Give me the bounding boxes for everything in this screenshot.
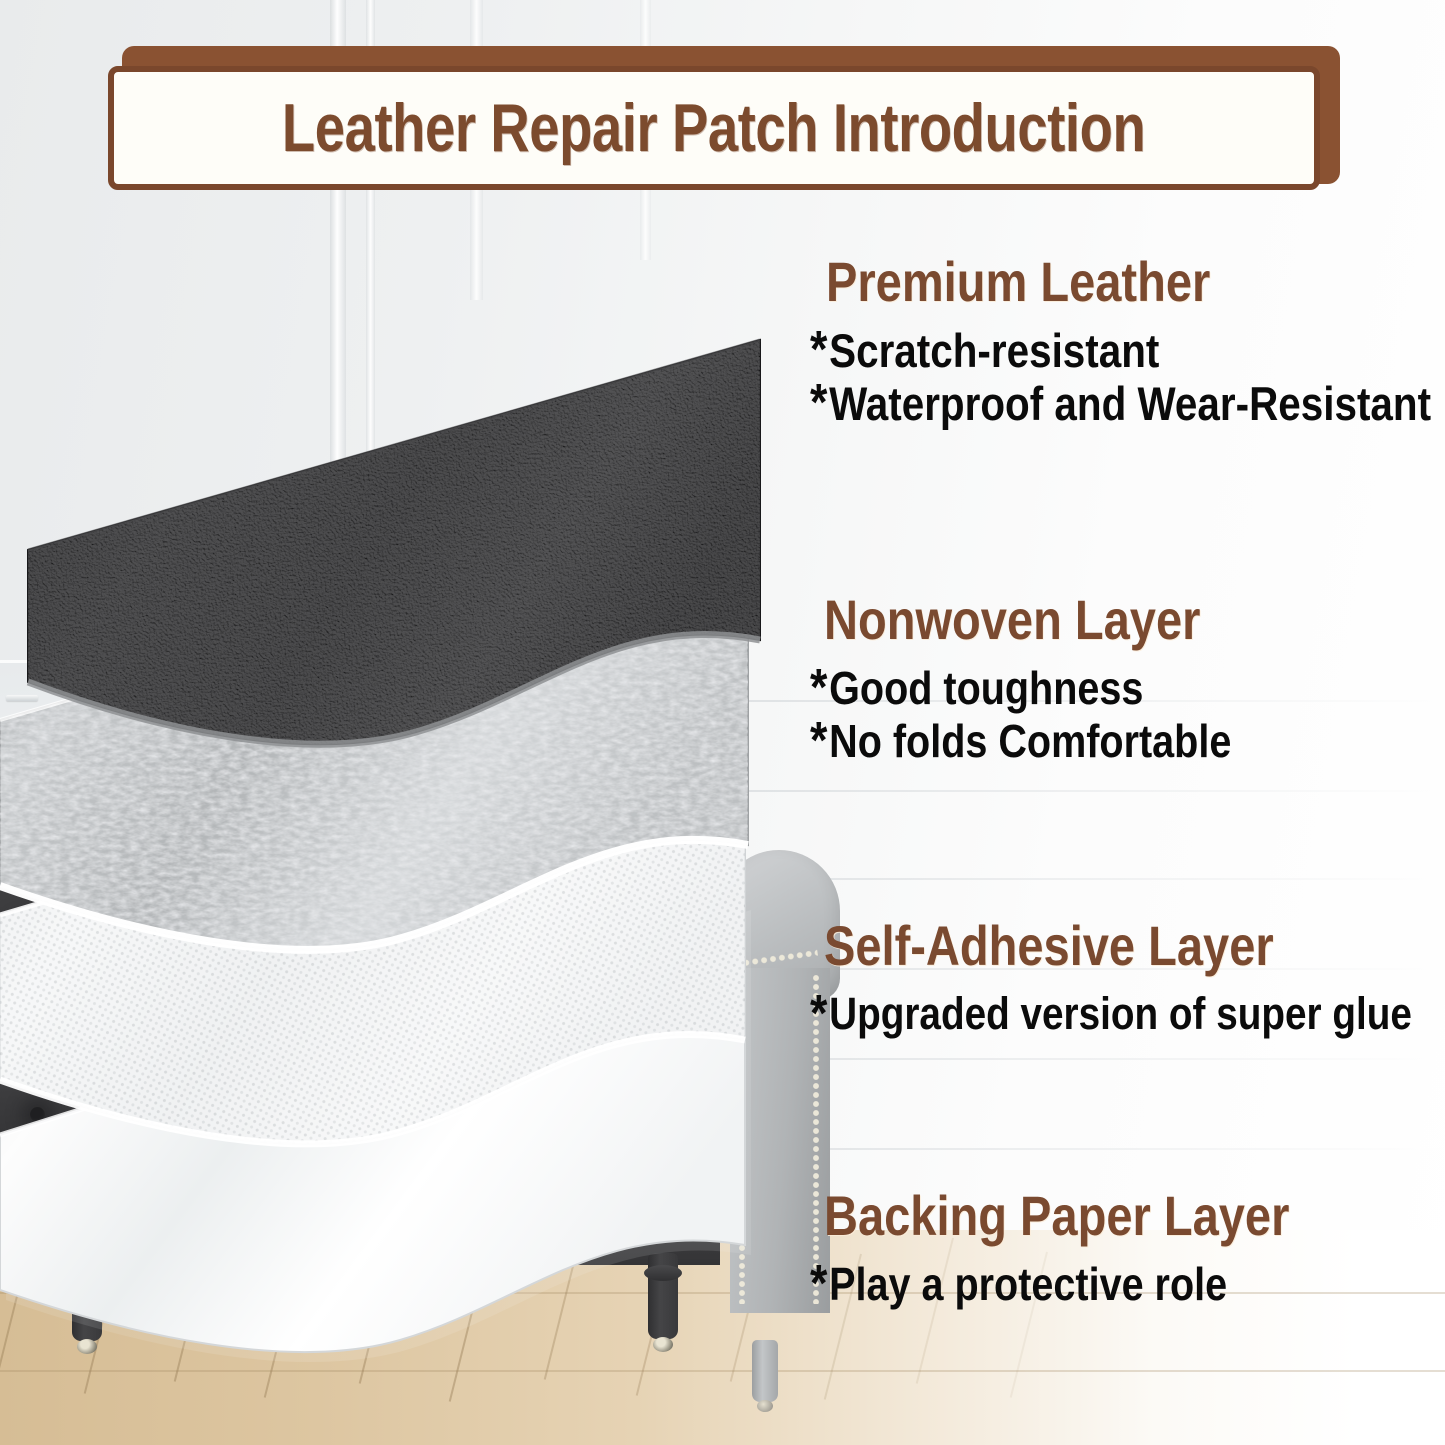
feature-block-backing-paper-layer: Backing Paper Layer * Play a protective … [810,1188,1445,1313]
infographic-canvas: Leather Repair Patch Introduction Premiu… [0,0,1445,1445]
feature-bullet: * Good toughness [810,664,1356,713]
feature-bullet-list: * Play a protective role [810,1260,1445,1309]
banner-box: Leather Repair Patch Introduction [108,66,1320,190]
feature-bullet: * Play a protective role [810,1260,1356,1309]
feature-bullet: * Waterproof and Wear-Resistant [810,379,1356,428]
feature-bullet-text: Scratch-resistant [829,326,1159,375]
feature-bullet-list: * Good toughness * No folds Comfortable [810,664,1445,767]
feature-bullet-text: No folds Comfortable [829,717,1231,765]
patch-layer-stack [0,340,840,1350]
asterisk-bullet-icon: * [810,990,827,1039]
feature-heading: Self-Adhesive Layer [824,918,1346,974]
feature-block-premium-leather: Premium Leather * Scratch-resistant * Wa… [810,254,1445,433]
asterisk-bullet-icon: * [810,717,827,766]
asterisk-bullet-icon: * [810,326,827,375]
feature-bullet-text: Waterproof and Wear-Resistant [829,379,1431,428]
feature-block-self-adhesive-layer: Self-Adhesive Layer * Upgraded version o… [810,918,1445,1043]
title-banner: Leather Repair Patch Introduction [108,52,1340,194]
feature-bullet-text: Upgraded version of super glue [829,990,1412,1037]
feature-bullet-text: Good toughness [829,664,1143,712]
feature-bullet-list: * Upgraded version of super glue [810,990,1445,1039]
feature-bullet: * No folds Comfortable [810,717,1356,766]
feature-bullet-text: Play a protective role [829,1260,1227,1308]
feature-heading: Premium Leather [826,254,1346,310]
feature-block-nonwoven-layer: Nonwoven Layer * Good toughness * No fol… [810,592,1445,771]
feature-heading: Backing Paper Layer [824,1188,1346,1244]
feature-bullet-list: * Scratch-resistant * Waterproof and Wea… [810,326,1445,429]
feature-bullet: * Upgraded version of super glue [810,990,1356,1039]
asterisk-bullet-icon: * [810,1260,827,1309]
patch-layers-svg [0,340,840,1350]
asterisk-bullet-icon: * [810,664,827,713]
page-title: Leather Repair Patch Introduction [282,89,1145,167]
feature-heading: Nonwoven Layer [824,592,1346,648]
feature-bullet: * Scratch-resistant [810,326,1356,375]
asterisk-bullet-icon: * [810,379,827,428]
